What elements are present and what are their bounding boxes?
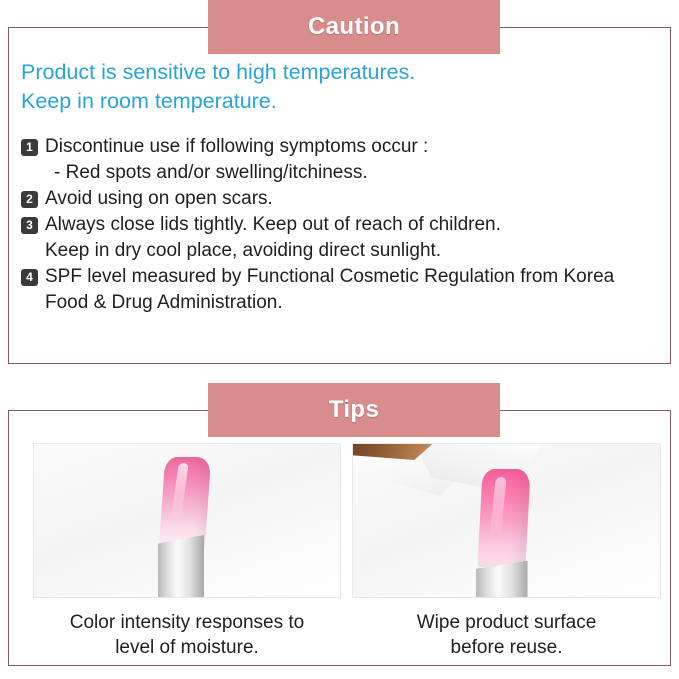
tip-caption-right-line-2: before reuse. <box>352 635 661 660</box>
tips-section: Color intensity responses to level of mo… <box>8 410 671 666</box>
list-item-continuation: Keep in dry cool place, avoiding direct … <box>21 238 666 264</box>
lipstick-illustration <box>158 457 216 597</box>
tip-caption-right: Wipe product surface before reuse. <box>352 610 661 660</box>
lipstick-silver-base <box>158 535 204 597</box>
list-item-subtext: - Red spots and/or swelling/itchiness. <box>21 160 666 186</box>
tip-caption-left: Color intensity responses to level of mo… <box>33 610 341 660</box>
list-item: 2 Avoid using on open scars. <box>21 186 666 212</box>
caution-heading-line-2: Keep in room temperature. <box>21 87 651 116</box>
bullet-highlight <box>489 477 506 539</box>
caution-list: 1 Discontinue use if following symptoms … <box>21 134 666 316</box>
number-badge-3: 3 <box>21 217 38 234</box>
caution-banner: Caution <box>208 0 500 54</box>
list-item: 4 SPF level measured by Functional Cosme… <box>21 264 666 290</box>
tip-panel-left: Color intensity responses to level of mo… <box>33 443 341 660</box>
lipstick-color-gradient-photo <box>33 443 341 598</box>
caution-heading-line-1: Product is sensitive to high temperature… <box>21 58 651 87</box>
number-badge-4: 4 <box>21 269 38 286</box>
list-item-text: Discontinue use if following symptoms oc… <box>45 134 666 160</box>
product-info-page: Product is sensitive to high temperature… <box>0 0 679 679</box>
lipstick-bullet <box>477 469 530 567</box>
tip-caption-left-line-2: level of moisture. <box>33 635 341 660</box>
list-item-text: Always close lids tightly. Keep out of r… <box>45 212 666 238</box>
lipstick-illustration <box>476 469 538 597</box>
caution-section: Product is sensitive to high temperature… <box>8 27 671 364</box>
list-item-text: SPF level measured by Functional Cosmeti… <box>45 264 666 290</box>
list-item: 3 Always close lids tightly. Keep out of… <box>21 212 666 238</box>
tips-banner: Tips <box>208 383 500 437</box>
list-item-continuation: Food & Drug Administration. <box>21 290 666 316</box>
caution-heading: Product is sensitive to high temperature… <box>21 58 651 116</box>
tip-caption-left-line-1: Color intensity responses to <box>33 610 341 635</box>
lipstick-wipe-with-tissue-photo <box>352 443 661 598</box>
bullet-highlight <box>171 463 189 519</box>
tip-caption-right-line-1: Wipe product surface <box>352 610 661 635</box>
list-item: 1 Discontinue use if following symptoms … <box>21 134 666 160</box>
tip-panel-right: Wipe product surface before reuse. <box>352 443 661 660</box>
number-badge-2: 2 <box>21 191 38 208</box>
list-item-text: Avoid using on open scars. <box>45 186 666 212</box>
number-badge-1: 1 <box>21 139 38 156</box>
